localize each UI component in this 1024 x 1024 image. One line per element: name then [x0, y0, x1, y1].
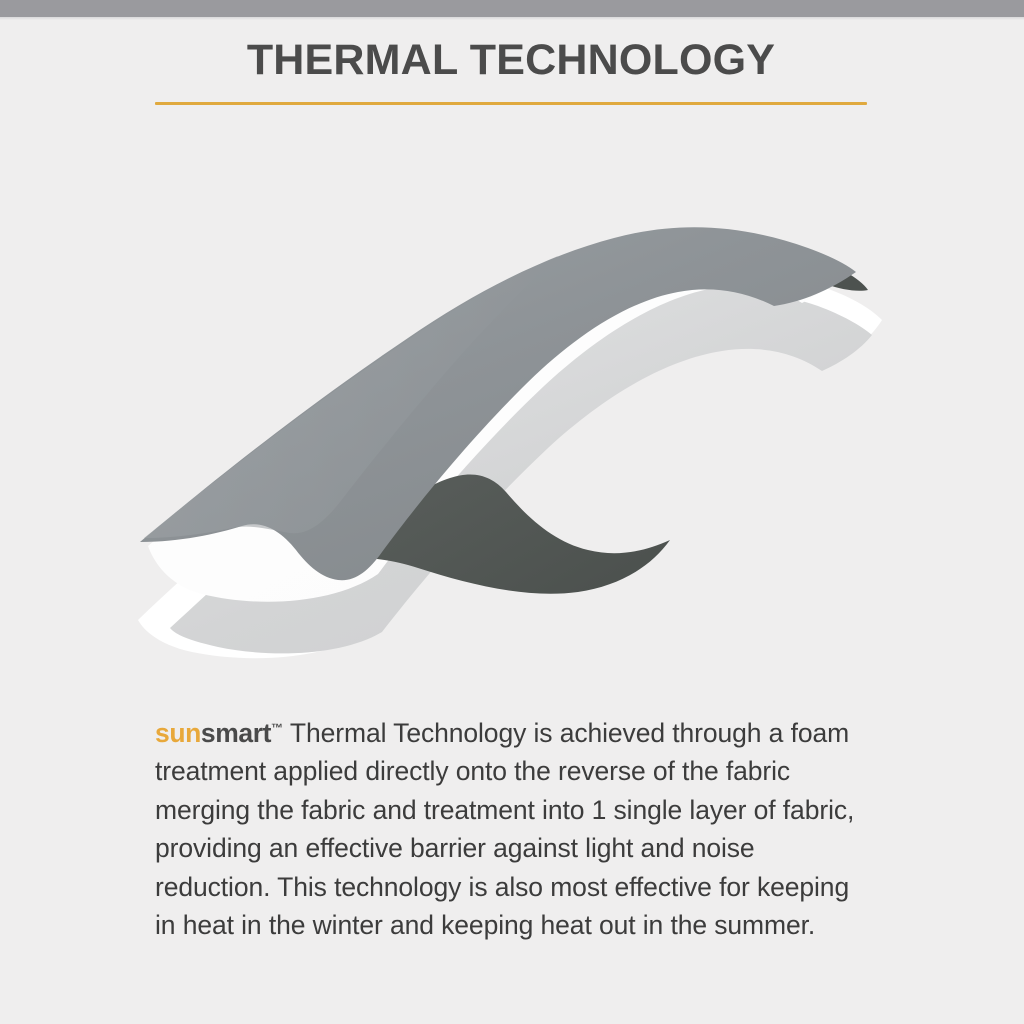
- description-text: Thermal Technology is achieved through a…: [155, 718, 854, 941]
- brand-smart-text: smart: [201, 718, 271, 748]
- sunsmart-brand-mark: sunsmart™: [155, 718, 283, 748]
- page-header: THERMAL TECHNOLOGY: [155, 38, 867, 105]
- page-title: THERMAL TECHNOLOGY: [155, 38, 867, 83]
- layered-fabric-illustration: [130, 190, 900, 660]
- page-container: THERMAL TECHNOLOGY: [0, 20, 1024, 1024]
- trademark-symbol: ™: [271, 721, 283, 735]
- top-chrome-bar: [0, 0, 1024, 17]
- title-divider-rule: [155, 102, 867, 105]
- description-paragraph: sunsmart™ Thermal Technology is achieved…: [155, 709, 867, 945]
- brand-sun-text: sun: [155, 718, 201, 748]
